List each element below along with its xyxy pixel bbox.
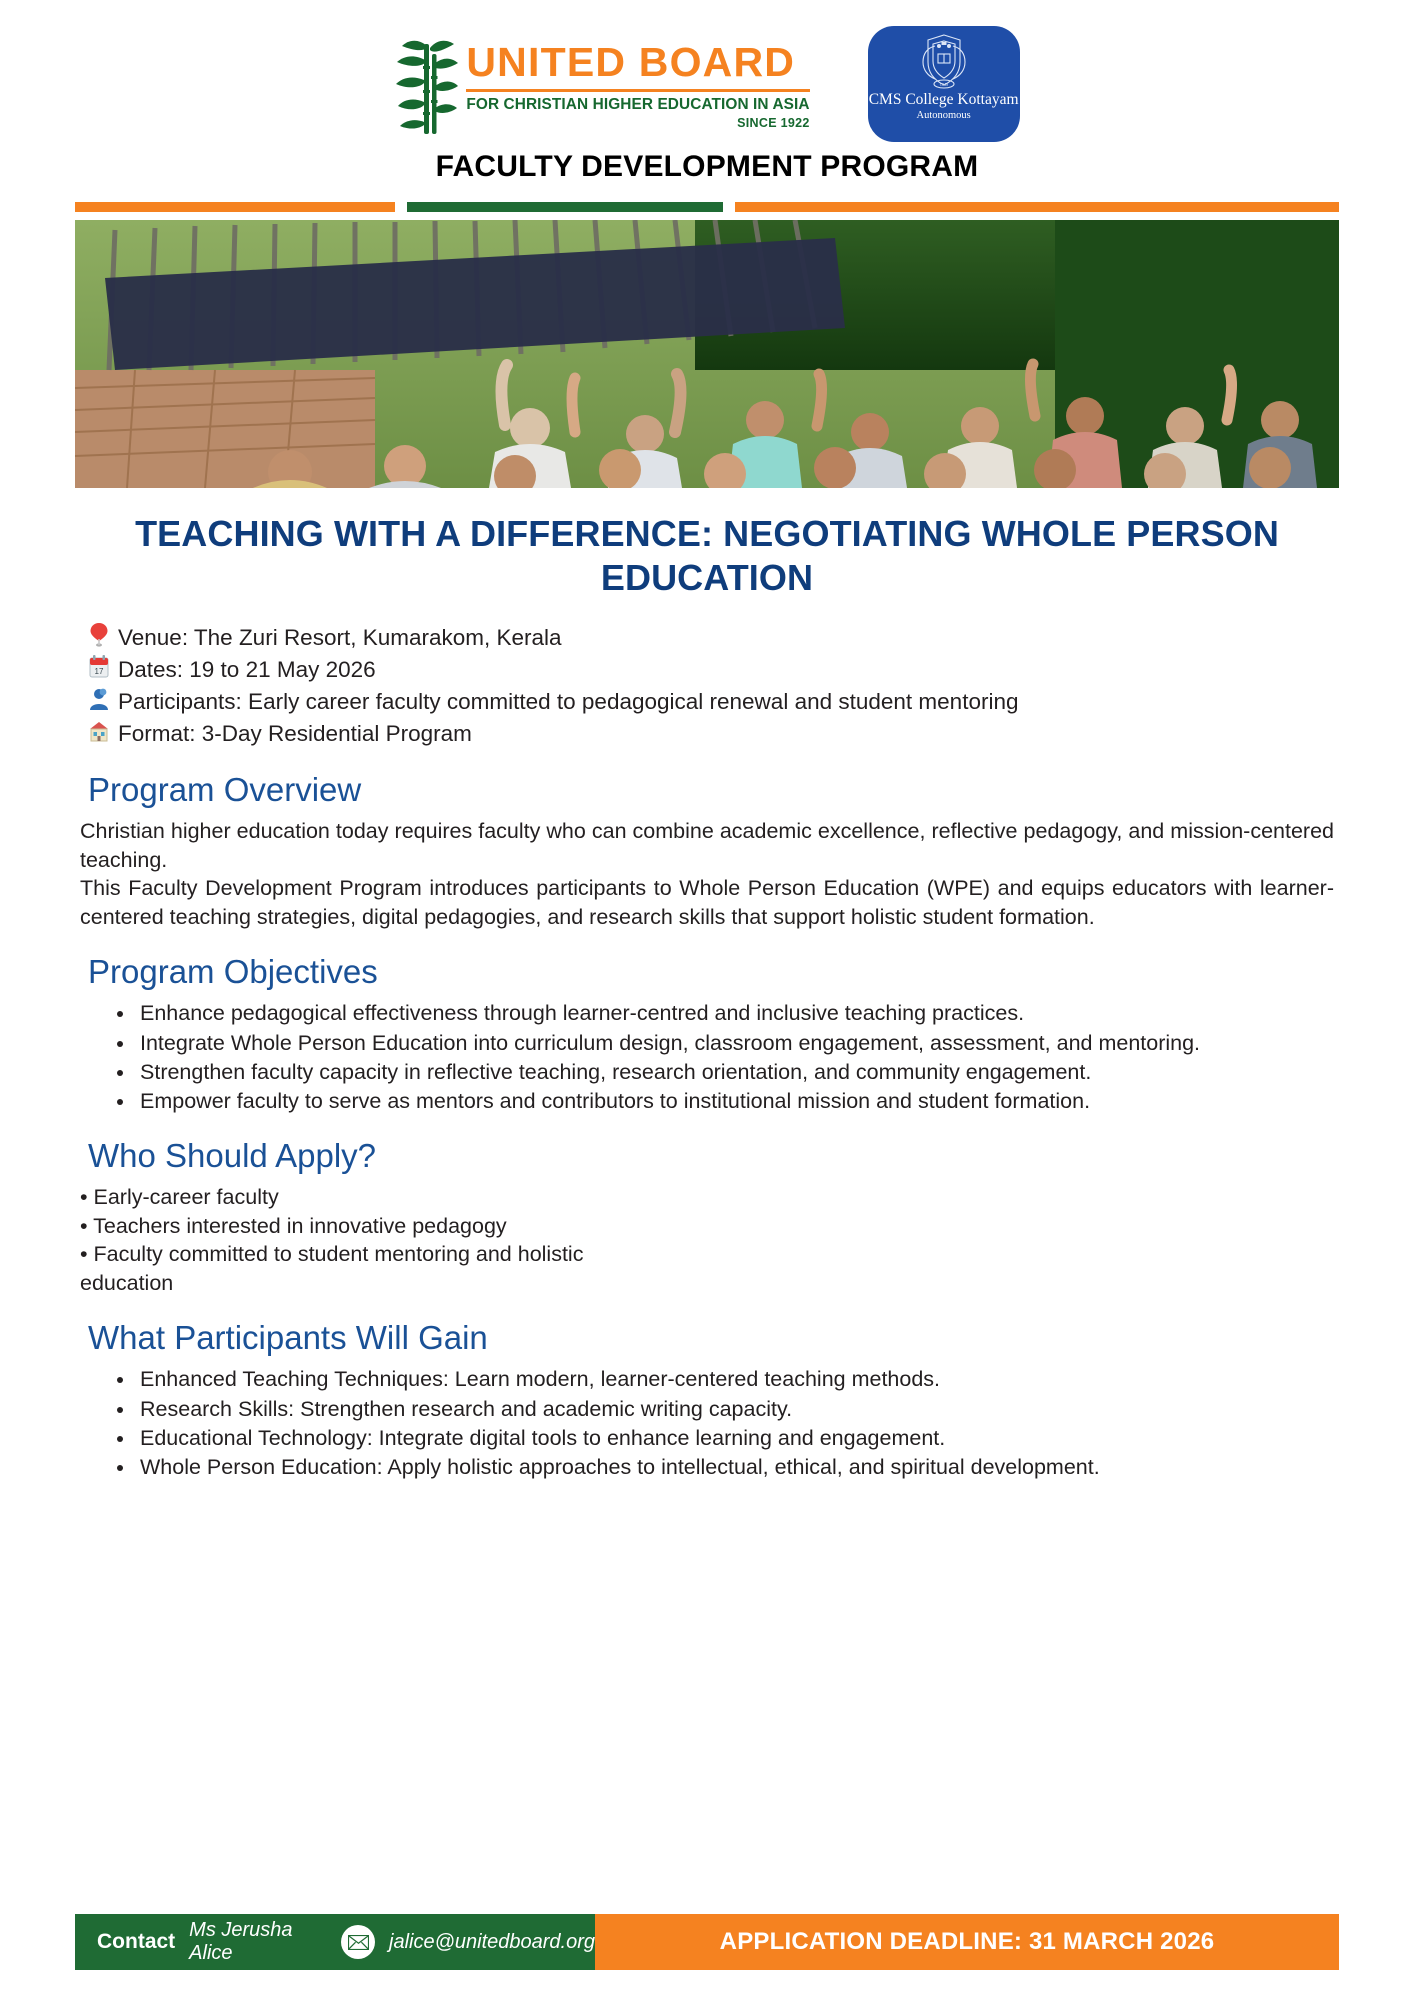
contact-name: Ms Jerusha Alice <box>189 1919 327 1965</box>
location-pin-icon <box>88 622 118 652</box>
list-item: Empower faculty to serve as mentors and … <box>136 1087 1334 1115</box>
detail-text: Format: 3-Day Residential Program <box>118 718 472 750</box>
tricolor-divider <box>75 202 1339 212</box>
objectives-list: Enhance pedagogical effectiveness throug… <box>108 999 1334 1116</box>
envelope-icon <box>341 1925 375 1959</box>
svg-text:17: 17 <box>95 667 104 676</box>
list-item: Strengthen faculty capacity in reflectiv… <box>136 1058 1334 1086</box>
who-should-apply-list: • Early-career faculty • Teachers intere… <box>80 1183 1334 1297</box>
building-icon <box>88 718 118 748</box>
group-photo-illustration <box>75 220 1339 488</box>
contact-email[interactable]: jalice@unitedboard.org <box>389 1931 595 1954</box>
divider-bar-orange-left <box>75 202 395 212</box>
logo-row: UNITED BOARD FOR CHRISTIAN HIGHER EDUCAT… <box>0 0 1414 148</box>
list-item: Enhanced Teaching Techniques: Learn mode… <box>136 1365 1334 1393</box>
cms-college-subtitle: Autonomous <box>916 111 970 122</box>
united-board-wordmark: UNITED BOARD FOR CHRISTIAN HIGHER EDUCAT… <box>466 34 809 130</box>
section-heading-overview: Program Overview <box>88 770 1414 810</box>
detail-text: Dates: 19 to 21 May 2026 <box>118 654 376 686</box>
section-heading-gains: What Participants Will Gain <box>88 1318 1414 1358</box>
list-item: Enhance pedagogical effectiveness throug… <box>136 999 1334 1027</box>
overview-paragraph: This Faculty Development Program introdu… <box>80 874 1334 931</box>
bamboo-icon <box>394 34 460 138</box>
participant-icon <box>88 686 118 716</box>
flyer-page: UNITED BOARD FOR CHRISTIAN HIGHER EDUCAT… <box>0 0 1414 2000</box>
section-heading-objectives: Program Objectives <box>88 952 1414 992</box>
list-item: • Early-career faculty <box>80 1183 1334 1212</box>
united-board-name: UNITED BOARD <box>466 42 809 83</box>
footer-deadline-section: APPLICATION DEADLINE: 31 MARCH 2026 <box>595 1914 1339 1970</box>
detail-row: 17 Dates: 19 to 21 May 2026 <box>88 654 1414 686</box>
application-deadline: APPLICATION DEADLINE: 31 MARCH 2026 <box>720 1928 1215 1956</box>
calendar-icon: 17 <box>88 654 118 684</box>
divider-bar-green <box>407 202 723 212</box>
overview-body: Christian higher education today require… <box>80 817 1334 931</box>
united-board-since: SINCE 1922 <box>466 116 809 130</box>
footer-bar: Contact Ms Jerusha Alice jalice@unitedbo… <box>75 1914 1339 1970</box>
united-board-logo: UNITED BOARD FOR CHRISTIAN HIGHER EDUCAT… <box>394 14 809 138</box>
cms-crest-icon: CMS <box>917 32 971 90</box>
overview-paragraph: Christian higher education today require… <box>80 817 1334 874</box>
page-title: TEACHING WITH A DIFFERENCE: NEGOTIATING … <box>110 512 1304 600</box>
list-item: • Teachers interested in innovative peda… <box>80 1212 1334 1241</box>
cms-college-logo: CMS CMS College Kottayam Autonomous <box>868 26 1020 142</box>
united-board-rule <box>466 89 809 92</box>
detail-row: Participants: Early career faculty commi… <box>88 686 1414 718</box>
divider-bar-orange-right <box>735 202 1339 212</box>
united-board-tagline: FOR CHRISTIAN HIGHER EDUCATION IN ASIA <box>466 97 809 113</box>
cms-college-name: CMS College Kottayam <box>869 92 1019 108</box>
list-item: Whole Person Education: Apply holistic a… <box>136 1453 1334 1481</box>
detail-row: Format: 3-Day Residential Program <box>88 718 1414 750</box>
section-heading-who-should-apply: Who Should Apply? <box>88 1136 1414 1176</box>
detail-row: Venue: The Zuri Resort, Kumarakom, Keral… <box>88 622 1414 654</box>
list-item: Research Skills: Strengthen research and… <box>136 1395 1334 1423</box>
list-item: Educational Technology: Integrate digita… <box>136 1424 1334 1452</box>
detail-text: Venue: The Zuri Resort, Kumarakom, Keral… <box>118 622 562 654</box>
gains-list: Enhanced Teaching Techniques: Learn mode… <box>108 1365 1334 1482</box>
footer-contact-section: Contact Ms Jerusha Alice jalice@unitedbo… <box>75 1914 595 1970</box>
program-banner-title: FACULTY DEVELOPMENT PROGRAM <box>0 150 1414 184</box>
group-photo <box>75 220 1339 488</box>
list-item: • Faculty committed to student mentoring… <box>80 1240 1334 1269</box>
list-item-continuation: education <box>80 1269 1334 1298</box>
program-details: Venue: The Zuri Resort, Kumarakom, Keral… <box>88 622 1414 750</box>
list-item: Integrate Whole Person Education into cu… <box>136 1029 1334 1057</box>
contact-label: Contact <box>97 1930 175 1954</box>
detail-text: Participants: Early career faculty commi… <box>118 686 1018 718</box>
svg-text:CMS: CMS <box>939 82 947 87</box>
